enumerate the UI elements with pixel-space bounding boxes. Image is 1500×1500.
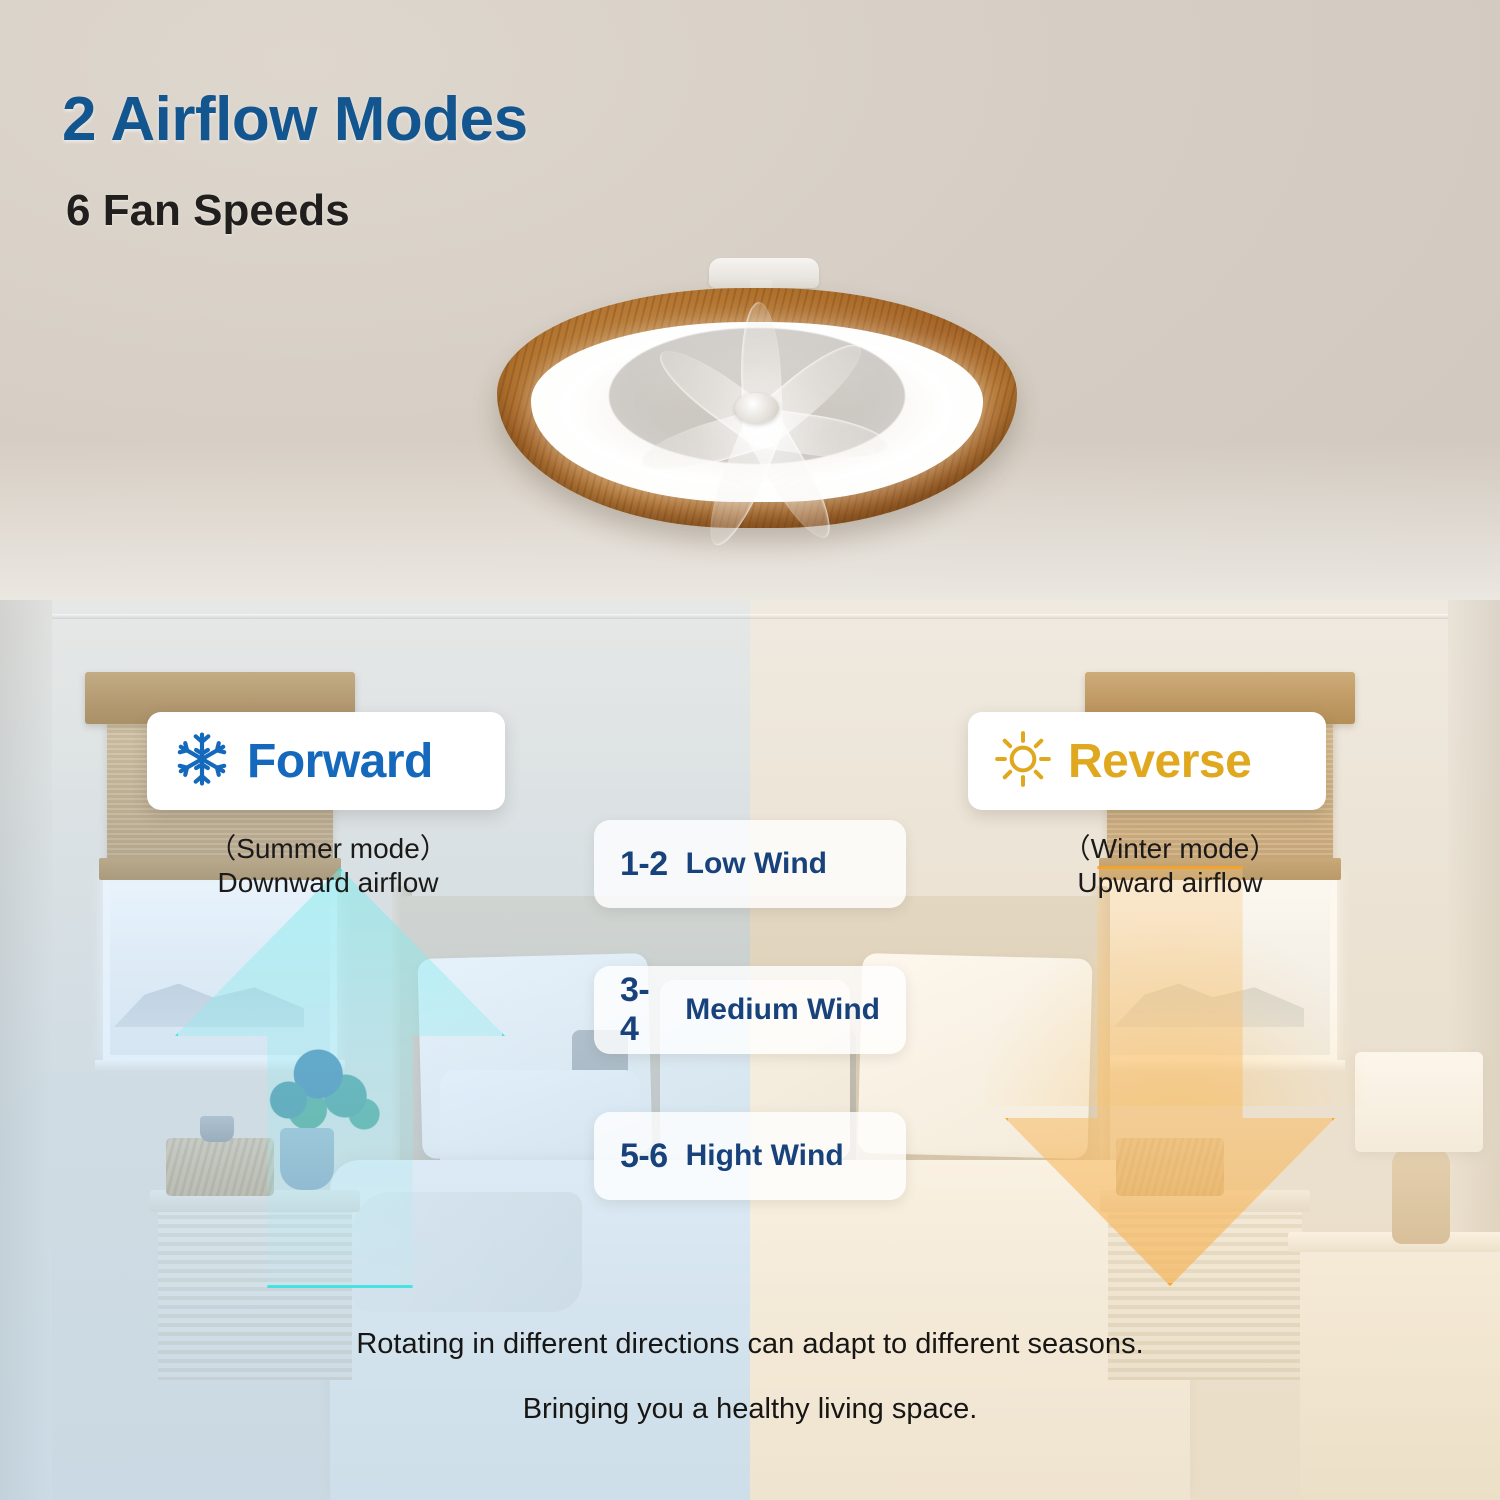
infographic-root: 2 Airflow Modes 6 Fan Speeds bbox=[0, 0, 1500, 1500]
window-view-hills bbox=[1114, 965, 1304, 1027]
window-sill bbox=[1095, 1060, 1345, 1072]
footer-caption: Rotating in different directions can ada… bbox=[0, 1330, 1500, 1424]
potted-plant-leaves bbox=[248, 1040, 383, 1140]
crown-molding bbox=[0, 614, 1500, 619]
page-subtitle: 6 Fan Speeds bbox=[66, 186, 350, 236]
sun-icon bbox=[994, 730, 1052, 793]
snowflake-icon bbox=[173, 730, 231, 793]
plant-pot bbox=[280, 1128, 334, 1190]
reverse-mode-caption: （Winter mode） Upward airflow bbox=[960, 832, 1380, 900]
page-title: 2 Airflow Modes bbox=[62, 84, 528, 155]
window-view-hills bbox=[114, 965, 304, 1027]
cup bbox=[200, 1116, 234, 1142]
woven-basket bbox=[1116, 1138, 1224, 1196]
ceiling-fan-product-image bbox=[497, 258, 1017, 528]
bed-throw-blanket bbox=[352, 1192, 582, 1312]
forward-mode-badge[interactable]: Forward bbox=[147, 712, 505, 810]
footer-line-1: Rotating in different directions can ada… bbox=[0, 1330, 1500, 1359]
speed-range: 1-2 bbox=[620, 845, 668, 884]
speed-label: Medium Wind bbox=[685, 993, 880, 1027]
reverse-caption-line-2: Upward airflow bbox=[960, 866, 1380, 900]
speed-label: Low Wind bbox=[686, 847, 827, 881]
reverse-mode-badge[interactable]: Reverse bbox=[968, 712, 1326, 810]
forward-caption-line-1: （Summer mode） bbox=[118, 832, 538, 866]
woven-basket bbox=[166, 1138, 274, 1196]
fan-motor-hub bbox=[735, 393, 779, 423]
fan-speed-list: 1-2 Low Wind 3-4 Medium Wind 5-6 Hight W… bbox=[594, 820, 906, 1258]
fan-body bbox=[497, 288, 1017, 528]
forward-mode-label: Forward bbox=[247, 734, 433, 789]
reverse-mode-label: Reverse bbox=[1068, 734, 1251, 789]
table-lamp-base bbox=[1392, 1148, 1450, 1244]
forward-mode-caption: （Summer mode） Downward airflow bbox=[118, 832, 538, 900]
table-lamp-shade bbox=[1355, 1052, 1483, 1152]
speed-label: Hight Wind bbox=[686, 1139, 844, 1173]
speed-range: 3-4 bbox=[620, 971, 667, 1049]
reverse-caption-line-1: （Winter mode） bbox=[960, 832, 1380, 866]
speed-card-low[interactable]: 1-2 Low Wind bbox=[594, 820, 906, 908]
speed-card-high[interactable]: 5-6 Hight Wind bbox=[594, 1112, 906, 1200]
speed-card-medium[interactable]: 3-4 Medium Wind bbox=[594, 966, 906, 1054]
footer-line-2: Bringing you a healthy living space. bbox=[0, 1395, 1500, 1424]
speed-range: 5-6 bbox=[620, 1137, 668, 1176]
forward-caption-line-2: Downward airflow bbox=[118, 866, 538, 900]
